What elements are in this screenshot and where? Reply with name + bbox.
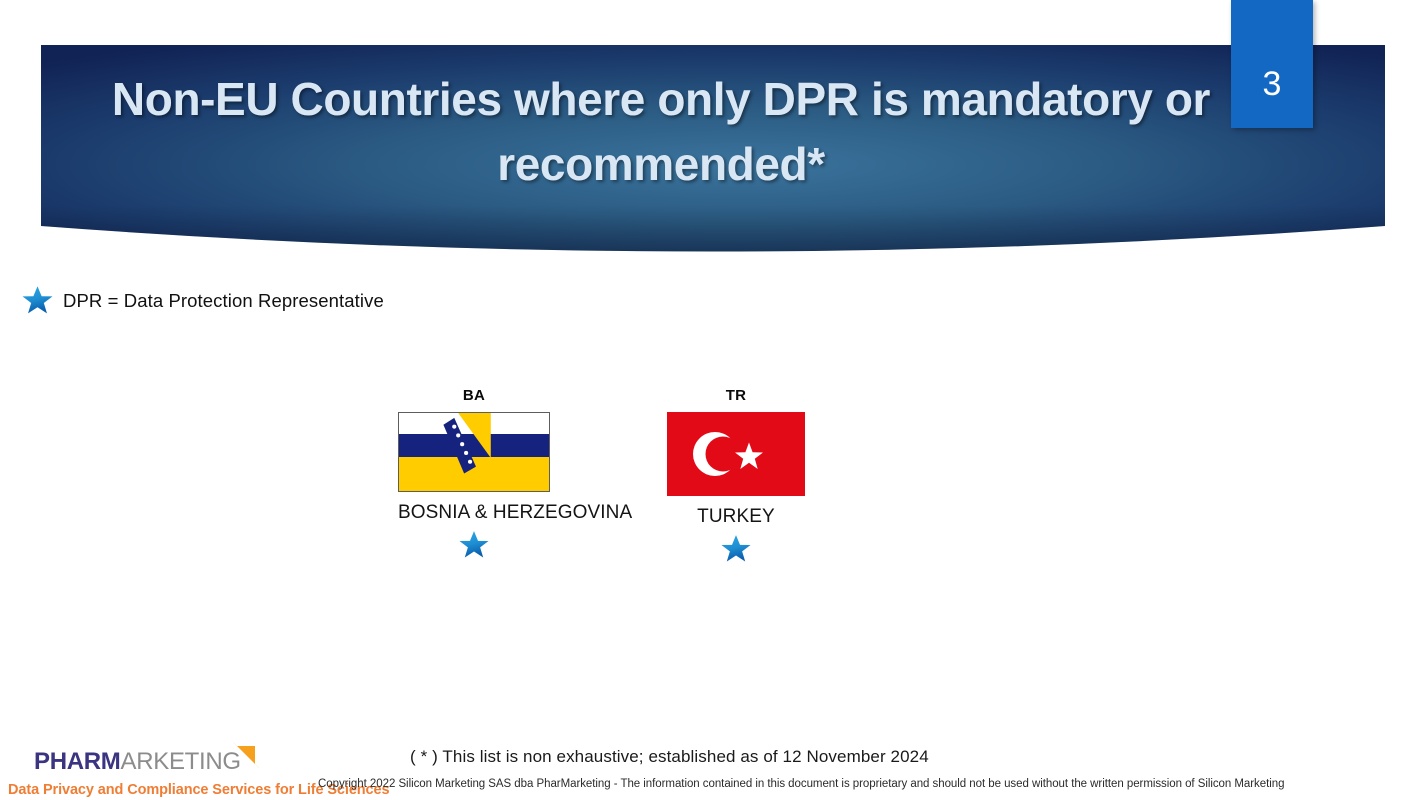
- star-icon: [20, 284, 55, 317]
- star-icon: [719, 533, 753, 565]
- copyright-notice: Copyright 2022 Silicon Marketing SAS dba…: [318, 778, 1284, 790]
- page-title: Non-EU Countries where only DPR is manda…: [101, 67, 1221, 198]
- logo-tagline: Data Privacy and Compliance Services for…: [8, 782, 328, 798]
- logo-wordmark-light: ARKETING: [121, 748, 241, 775]
- logo-swoosh-icon: [230, 742, 260, 779]
- country-marker: [667, 533, 805, 565]
- country-name: TURKEY: [667, 507, 805, 526]
- title-banner: Non-EU Countries where only DPR is manda…: [41, 45, 1385, 260]
- flag-overlay: [399, 413, 549, 491]
- logo-wordmark: PHARMARKETING: [8, 750, 328, 774]
- star-icon: [457, 529, 491, 561]
- company-logo: PHARMARKETING Data Privacy and Complianc…: [8, 750, 328, 798]
- star-icon-glyph: [20, 284, 55, 317]
- logo-swoosh-glyph: [230, 742, 260, 774]
- country-marker: [398, 529, 550, 561]
- legend: DPR = Data Protection Representative: [20, 284, 384, 317]
- country-name: BOSNIA & HERZEGOVINA: [398, 503, 550, 522]
- page-number-value: 3: [1263, 27, 1282, 101]
- country-code: BA: [398, 388, 550, 403]
- logo-wordmark-bold: PHARM: [34, 748, 121, 775]
- flag-crescent-star: [667, 412, 805, 496]
- footnote: ( * ) This list is non exhaustive; estab…: [410, 747, 929, 767]
- country-list: BA BOSNIA & HERZEGOVINA: [0, 388, 1402, 568]
- flag-turkey-icon: [667, 412, 805, 496]
- page-number-badge: 3: [1231, 0, 1313, 128]
- flag-bosnia-herzegovina-icon: [398, 412, 550, 492]
- country-code: TR: [667, 388, 805, 403]
- legend-label: DPR = Data Protection Representative: [63, 290, 384, 312]
- country-item-tr: TR TURKEY: [667, 388, 805, 565]
- country-item-ba: BA BOSNIA & HERZEGOVINA: [398, 388, 550, 561]
